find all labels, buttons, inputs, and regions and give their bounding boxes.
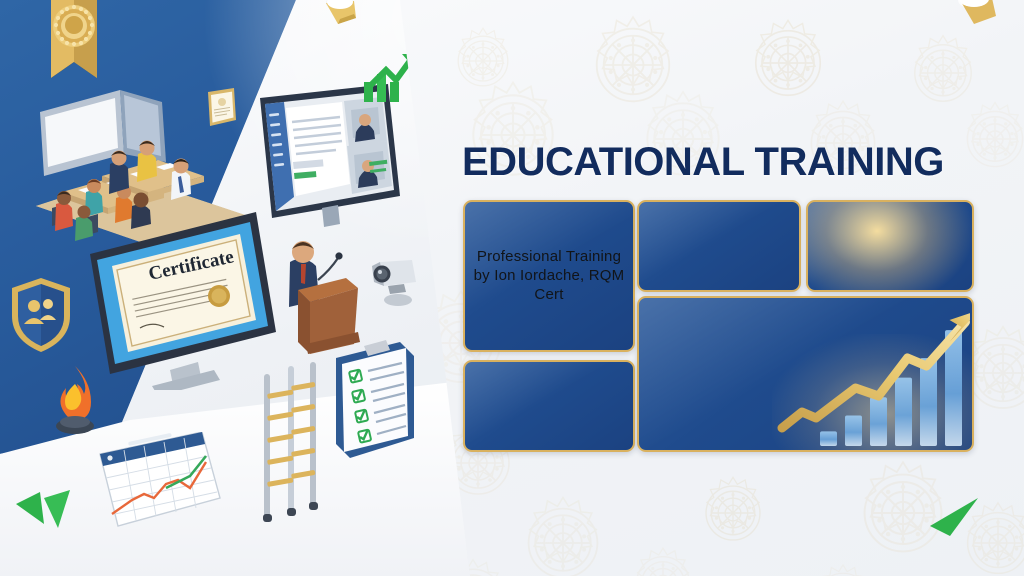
card-sheen: [465, 362, 633, 450]
card-light-glow: [806, 200, 972, 292]
content-card-bottom-left[interactable]: [463, 360, 635, 452]
award-ribbon-icon: [43, 0, 105, 100]
gold-seal-watermark: [957, 101, 1024, 178]
content-card-top-middle[interactable]: [637, 200, 801, 292]
chart-bar: [920, 358, 937, 446]
card-sheen: [639, 202, 799, 290]
shield-people-icon: [8, 276, 74, 354]
training-credit-card[interactable]: Professional Training by Ion Iordache, R…: [463, 200, 635, 352]
green-arrow-left-icon: [14, 490, 76, 534]
checklist-clipboard-icon: [330, 340, 416, 460]
spotlight-lamp-icon: [316, 0, 362, 28]
line-chart-board: [98, 432, 222, 528]
green-arrow-bottom-right-icon: [928, 498, 982, 538]
spotlight-top-right-icon: [948, 0, 1004, 32]
video-camera-icon: [366, 258, 422, 310]
training-credit-text: Professional Training by Ion Iordache, R…: [465, 247, 633, 305]
ladder-icon: [258, 362, 326, 528]
gold-seal-watermark: [515, 495, 610, 576]
gold-seal-watermark: [807, 563, 878, 576]
slide-canvas: Certificate: [0, 0, 1024, 576]
gold-seal-watermark: [626, 546, 699, 576]
isometric-training-illustration: Certificate: [0, 0, 470, 576]
content-card-top-right[interactable]: [806, 200, 974, 292]
gold-seal-watermark: [743, 18, 832, 107]
page-title: EDUCATIONAL TRAINING: [462, 140, 944, 185]
gold-seal-watermark: [696, 476, 771, 551]
chart-bar: [845, 416, 862, 447]
chart-bar: [820, 431, 837, 446]
growth-bar-chart: [740, 300, 970, 450]
flame-icon: [48, 364, 102, 440]
podium-speaker: [272, 218, 364, 358]
chart-bar: [895, 378, 912, 446]
chart-bar: [870, 397, 887, 446]
growth-chart-card[interactable]: [637, 296, 974, 452]
